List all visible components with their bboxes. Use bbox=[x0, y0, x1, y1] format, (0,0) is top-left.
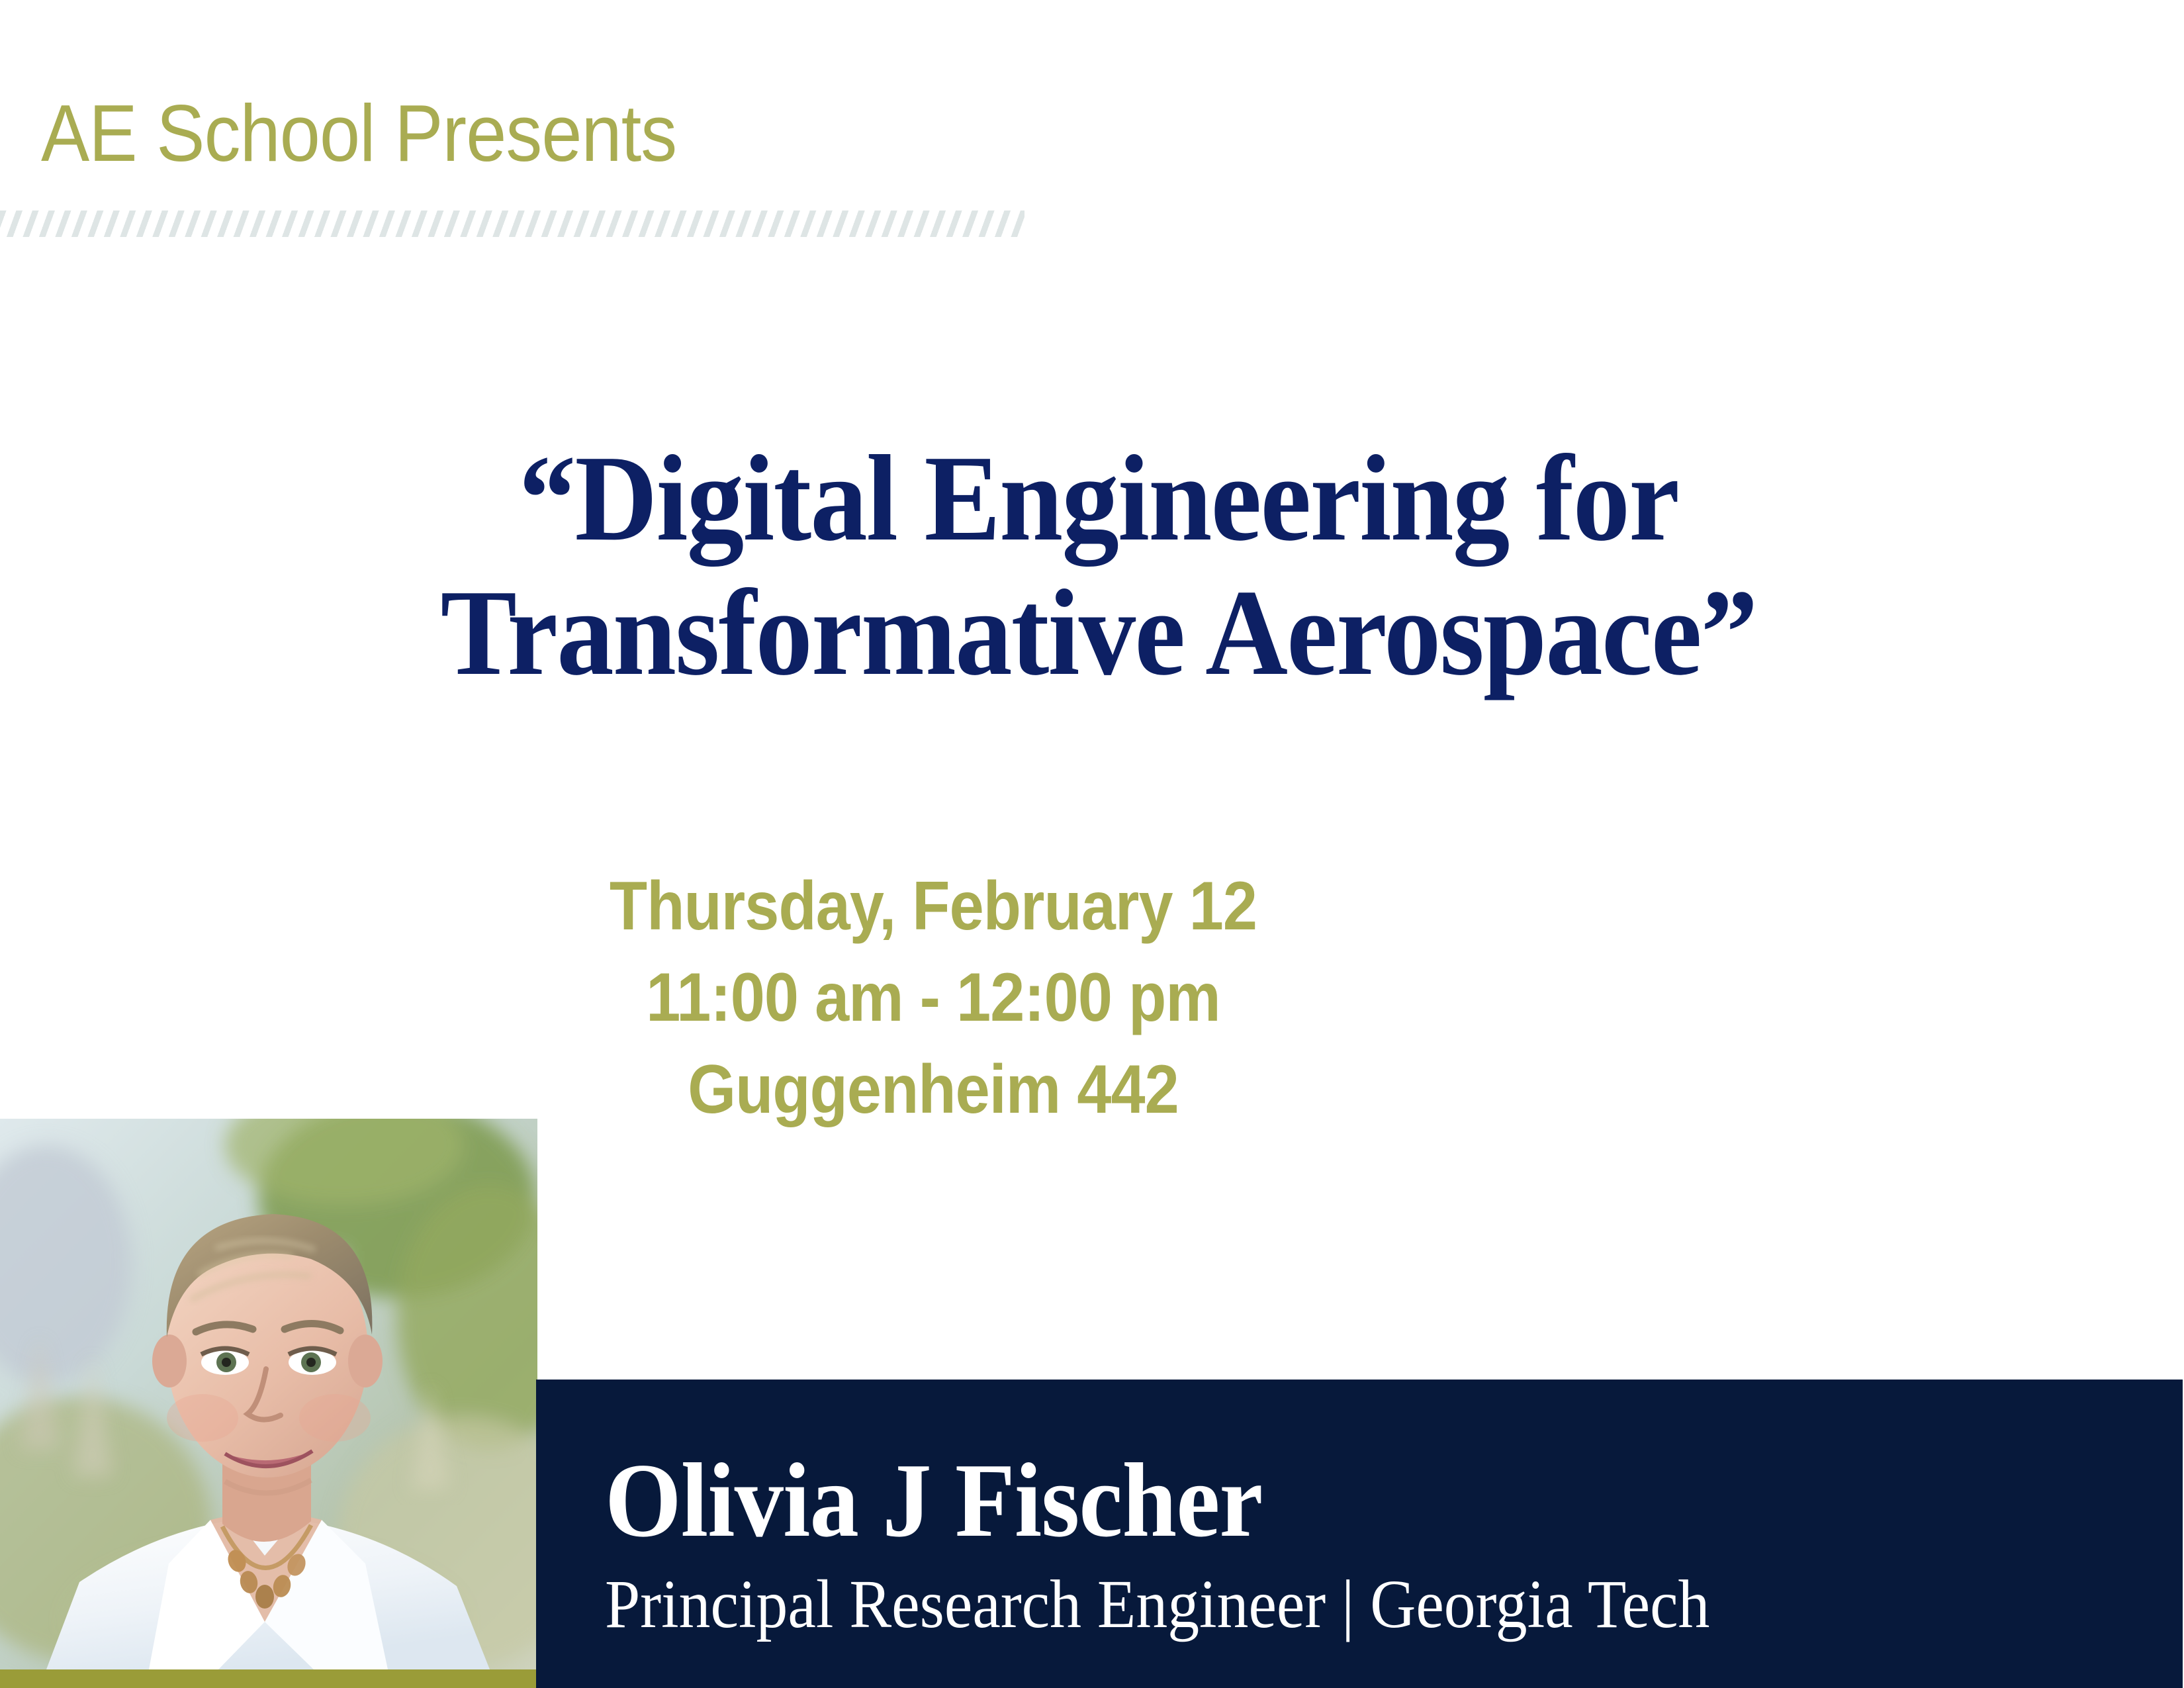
event-time: 11:00 am - 12:00 pm bbox=[308, 952, 1559, 1043]
speaker-headshot-illustration bbox=[0, 1119, 537, 1669]
speaker-role: Principal Research Engineer | Georgia Te… bbox=[605, 1570, 1709, 1639]
event-details: Thursday, February 12 11:00 am - 12:00 p… bbox=[308, 861, 1559, 1135]
seminar-flyer: AE School Presents “Digital Engineering … bbox=[0, 0, 2184, 1688]
speaker-photo bbox=[0, 1119, 537, 1669]
speaker-panel: Olivia J Fischer Principal Research Engi… bbox=[536, 1380, 2183, 1688]
speaker-name: Olivia J Fischer bbox=[605, 1447, 1263, 1553]
hatched-divider bbox=[0, 211, 1024, 237]
photo-accent-bar bbox=[0, 1669, 537, 1688]
presenter-eyebrow: AE School Presents bbox=[41, 93, 676, 173]
page-title: “Digital Engineering for Transformative … bbox=[138, 432, 2059, 700]
event-date: Thursday, February 12 bbox=[308, 861, 1559, 952]
